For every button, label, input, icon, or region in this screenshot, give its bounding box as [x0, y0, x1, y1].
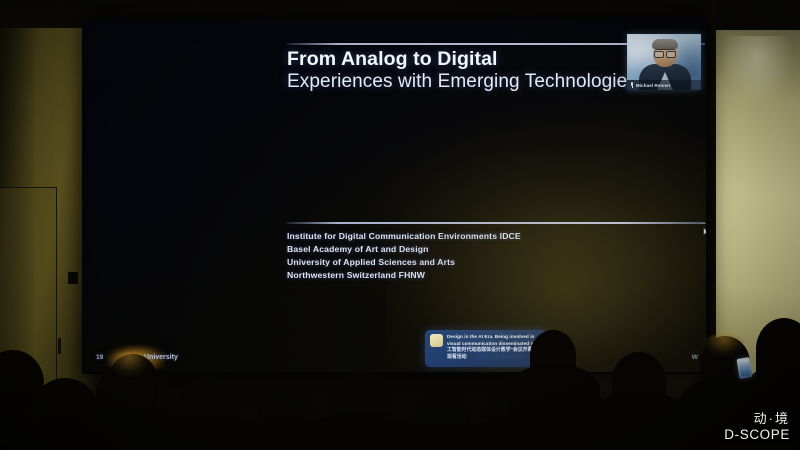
video-participant-name: Michael Renner — [636, 83, 671, 88]
audience-hair-highlight — [106, 352, 152, 378]
right-wall-highlight — [722, 36, 794, 106]
screen-edge-mark — [700, 223, 706, 224]
glasses-icon — [654, 49, 676, 56]
affiliation-line-4: Northwestern Switzerland FHNW — [287, 269, 521, 282]
video-participant-tile[interactable]: Michael Renner — [627, 34, 701, 90]
video-name-bar: Michael Renner — [627, 80, 701, 90]
slide-footer: 19 University renner@fhnw.ch W — [84, 352, 706, 370]
projection-screen: From Analog to Digital Experiences with … — [84, 20, 706, 372]
mouse-cursor-icon — [703, 227, 706, 237]
watermark-chinese: 动·境 — [724, 412, 790, 427]
affiliation-line-3: University of Applied Sciences and Arts — [287, 256, 521, 269]
affiliation-line-1: Institute for Digital Communication Envi… — [287, 230, 521, 243]
slide-rule-middle — [287, 222, 705, 224]
wall-switch — [68, 272, 78, 284]
microphone-icon — [630, 82, 634, 88]
caption-bubble: Design in the AI Era. Being involved in … — [425, 330, 547, 367]
video-participant-hair — [652, 39, 678, 49]
watermark-latin: D-SCOPE — [724, 427, 790, 442]
slide-footer-right-mark: W — [692, 354, 698, 361]
phone-screen — [738, 359, 750, 377]
slide-affiliation-block: Institute for Digital Communication Envi… — [287, 230, 521, 282]
watermark: 动·境 D-SCOPE — [724, 412, 790, 442]
slide-page-number: 19 — [96, 354, 103, 361]
presentation-photo-scene: From Analog to Digital Experiences with … — [0, 0, 800, 450]
caption-text-chinese: 工智能时代动态媒体设计教学"会议开幕与观看活动 — [447, 348, 542, 362]
affiliation-line-2: Basel Academy of Art and Design — [287, 243, 521, 256]
caption-text-group: Design in the AI Era. Being involved in … — [447, 334, 542, 362]
caption-avatar — [430, 334, 443, 347]
audience-hair-highlight — [700, 334, 748, 358]
audience-shoulders — [508, 364, 600, 424]
caption-text-english: Design in the AI Era. Being involved in … — [447, 334, 542, 347]
door-handle — [58, 338, 61, 354]
